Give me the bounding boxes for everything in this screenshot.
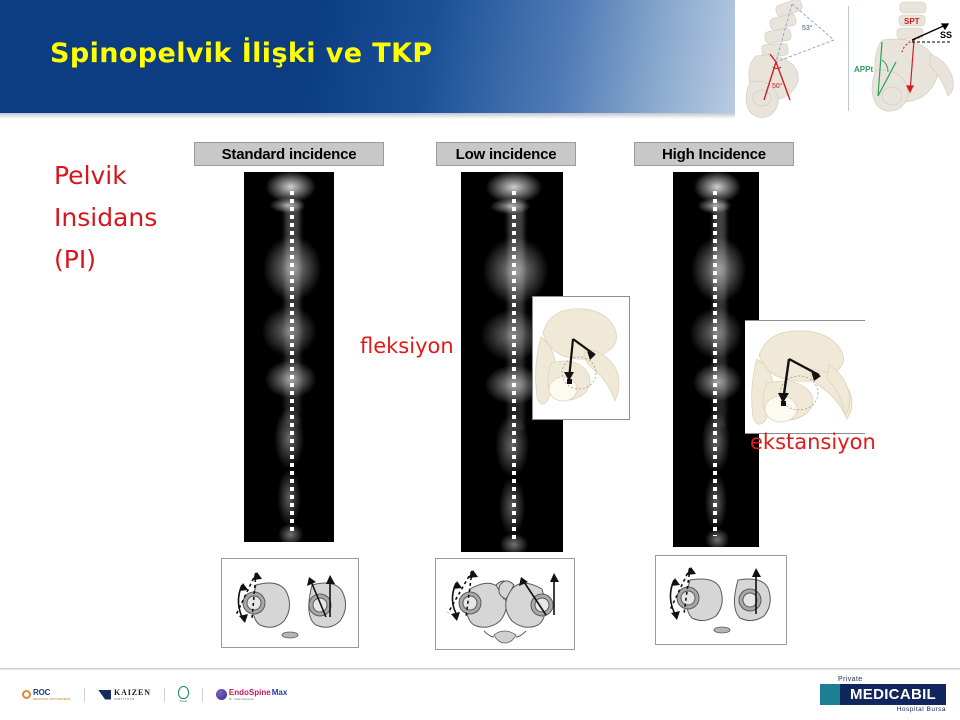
top-right-figures: 53° 50°: [736, 0, 960, 120]
kaizen-logo: KAIZEN INSTITUTE: [98, 688, 151, 701]
pelvis-bone-photo: [533, 297, 629, 419]
endospinemax-text-secondary: Max: [272, 688, 288, 697]
endospinemax-sphere-icon: [216, 689, 227, 700]
schematic-high-incidence: [655, 555, 787, 645]
extension-label: ekstansiyon: [750, 430, 876, 454]
pelvic-incidence-caption: Pelvik Insidans (PI): [54, 155, 224, 281]
figure-divider: [848, 6, 849, 111]
schematic-standard-incidence: [221, 558, 359, 648]
endospinemax-text-primary: EndoSpine: [229, 688, 271, 697]
roc-logo-subtext: REGIONAL ORTHOPAEDIC: [33, 697, 71, 701]
roc-ring-icon: [22, 690, 31, 699]
kusto-logo-text: Kusto: [180, 699, 188, 703]
column-header-standard-incidence: Standard incidence: [194, 142, 384, 166]
medicabil-hospital-label: Hospital Bursa: [820, 706, 946, 713]
kaizen-logo-text: KAIZEN: [114, 688, 151, 697]
medicabil-logo-bar: MEDICABIL: [820, 684, 946, 705]
footer-divider: [0, 668, 960, 670]
medicabil-logo: Private MEDICABIL Hospital Bursa: [820, 676, 946, 713]
endospinemax-logo: EndoSpine Max Dr. Yetkin Söyüncü: [216, 688, 287, 701]
caption-line-3: (PI): [54, 239, 224, 281]
kaizen-triangle-icon: [98, 690, 111, 700]
pelvic-incidence-angle-figure: 53° 50°: [736, 0, 846, 118]
roc-logo: ROC REGIONAL ORTHOPAEDIC: [22, 688, 71, 701]
spt-label: SPT: [904, 17, 920, 26]
medicabil-name: MEDICABIL: [840, 684, 946, 705]
xray-spine-shading: [508, 202, 524, 430]
footer-logo-strip: ROC REGIONAL ORTHOPAEDIC KAIZEN INSTITUT…: [22, 686, 287, 703]
banner-shadow: [0, 113, 735, 119]
plumb-line: [512, 191, 516, 541]
kusto-leaf-icon: [178, 686, 189, 699]
kaizen-logo-subtext: INSTITUTE: [114, 697, 151, 701]
angle-upper-label: 53°: [802, 24, 813, 32]
xray-standard-incidence: [244, 172, 334, 542]
column-header-low-incidence: Low incidence: [436, 142, 576, 166]
pelvis-bone-inset-flexion: [532, 296, 630, 420]
logo-separator: [202, 688, 203, 702]
medicabil-private-label: Private: [838, 676, 946, 683]
kusto-logo: Kusto: [178, 686, 189, 703]
endospinemax-tagline: Dr. Yetkin Söyüncü: [229, 697, 287, 701]
flexion-label: fleksiyon: [360, 334, 454, 358]
column-header-high-incidence: High Incidence: [634, 142, 794, 166]
logo-separator: [164, 688, 165, 702]
plumb-line: [713, 191, 717, 536]
medicabil-square-icon: [820, 684, 840, 705]
angle-lower-label: 50°: [772, 82, 783, 90]
pelvis-rotation-schematic: [656, 556, 786, 644]
pelvis-bone-inset-extension: [745, 320, 865, 434]
pelvis-rotation-schematic: [436, 559, 574, 649]
roc-logo-text: ROC: [33, 688, 71, 697]
page-title: Spinopelvik İlişki ve TKP: [50, 38, 433, 69]
appt-label: APPt: [854, 65, 873, 74]
ss-label: SS: [940, 30, 952, 40]
plumb-line: [290, 191, 294, 531]
schematic-low-incidence: [435, 558, 575, 650]
slide-canvas: Spinopelvik İlişki ve TKP 53°: [0, 0, 960, 720]
spt-appt-ss-figure: SPT SS APPt: [852, 0, 960, 118]
logo-separator: [84, 688, 85, 702]
pelvis-bone-photo: [745, 321, 865, 433]
pelvis-rotation-schematic: [222, 559, 358, 647]
caption-line-2: Insidans: [54, 197, 224, 239]
